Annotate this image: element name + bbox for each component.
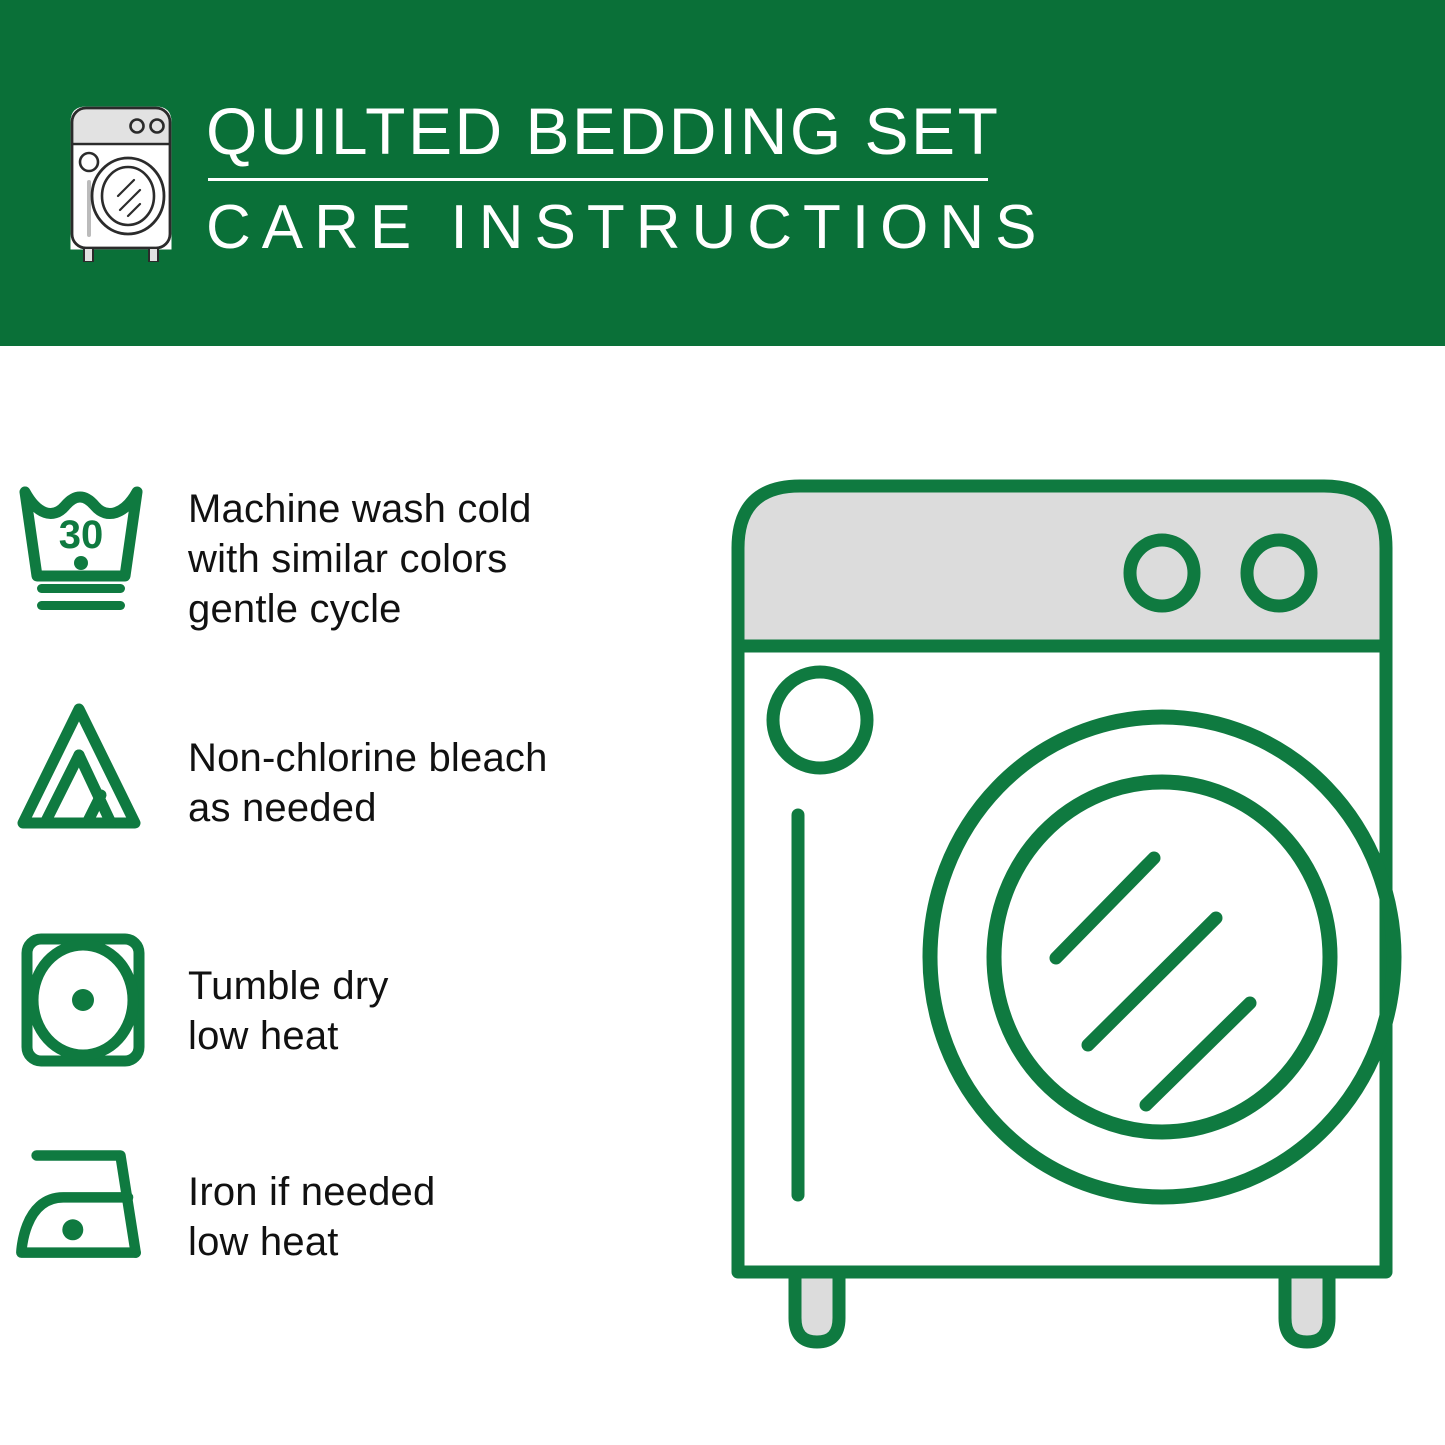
page-subtitle: CARE INSTRUCTIONS <box>206 193 1047 263</box>
care-row: Iron if needed low heat <box>0 1135 700 1275</box>
care-instructions-page: QUILTED BEDDING SET CARE INSTRUCTIONS <box>0 0 1445 1445</box>
care-row: Non-chlorine bleach as needed <box>0 695 700 845</box>
drum-reflection-2 <box>1088 918 1216 1045</box>
wash-basin-30-icon: 30 <box>0 470 170 620</box>
header-content: QUILTED BEDDING SET CARE INSTRUCTIONS <box>62 92 1047 263</box>
bleach-triangle-icon <box>0 695 170 845</box>
care-row-label: Iron if needed low heat <box>170 1135 700 1267</box>
care-row: 30 Machine wash cold with similar colors… <box>0 470 700 634</box>
care-row-label: Tumble dry low heat <box>170 925 700 1061</box>
page-title: QUILTED BEDDING SET <box>206 94 1047 168</box>
drum-reflection-1 <box>1056 858 1154 958</box>
care-row-label: Non-chlorine bleach as needed <box>170 695 700 833</box>
page-header: QUILTED BEDDING SET CARE INSTRUCTIONS <box>0 0 1445 346</box>
drum-reflection-3 <box>1146 1003 1250 1105</box>
washer-leg-right <box>1285 1272 1329 1342</box>
front-load-washing-machine-illustration <box>722 470 1402 1360</box>
drum-inner-ring <box>994 782 1330 1132</box>
washing-machine-icon <box>62 100 180 262</box>
control-panel-fill <box>738 486 1386 646</box>
header-titles: QUILTED BEDDING SET CARE INSTRUCTIONS <box>206 92 1047 263</box>
washer-leg-left <box>795 1272 839 1342</box>
iron-low-heat-icon <box>0 1135 170 1275</box>
indicator-light <box>773 672 867 768</box>
tumble-dry-low-icon <box>0 925 170 1075</box>
wash-temperature-label: 30 <box>59 513 104 557</box>
title-divider <box>208 178 988 181</box>
care-row-label: Machine wash cold with similar colors ge… <box>170 470 700 634</box>
care-row: Tumble dry low heat <box>0 925 700 1075</box>
